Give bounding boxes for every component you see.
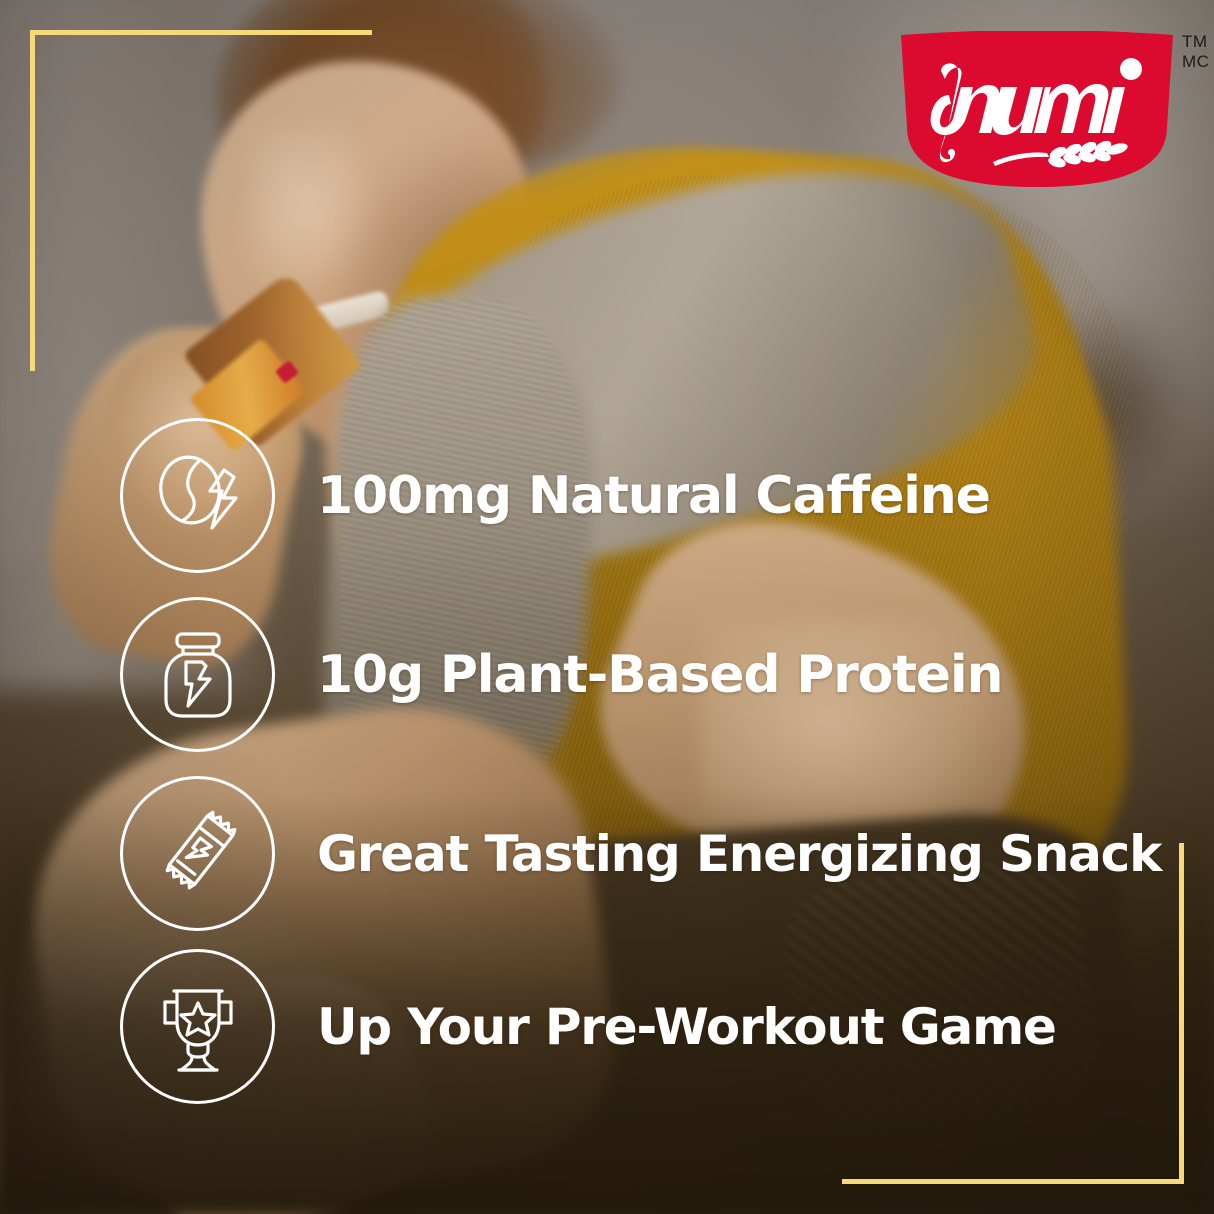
feature-item-protein: 10g Plant-Based Protein [120, 597, 1120, 752]
product-feature-poster: TM MC 100mg Natural Caffeine [0, 0, 1214, 1214]
feature-label-caffeine: 100mg Natural Caffeine [317, 470, 990, 522]
corner-bracket-top-left-horizontal [30, 30, 372, 35]
brand-logo: TM MC [897, 31, 1177, 191]
trademark-mark: TM MC [1182, 32, 1209, 72]
corner-bracket-bottom-right-vertical [1179, 843, 1184, 1184]
energy-bar-lightning-icon [120, 776, 275, 931]
trademark-mc: MC [1182, 52, 1209, 72]
feature-label-preworkout: Up Your Pre-Workout Game [317, 1002, 1056, 1052]
coffee-bean-lightning-icon [120, 418, 275, 573]
trophy-star-icon [120, 949, 275, 1104]
feature-label-protein: 10g Plant-Based Protein [317, 649, 1002, 701]
corner-bracket-top-left-vertical [30, 30, 35, 371]
feature-list: 100mg Natural Caffeine 10g Plant-Based P… [120, 418, 1120, 1128]
corner-bracket-bottom-right-horizontal [842, 1179, 1184, 1184]
feature-item-snack: Great Tasting Energizing Snack [120, 776, 1120, 931]
trademark-tm: TM [1182, 32, 1209, 52]
feature-label-snack: Great Tasting Energizing Snack [317, 829, 1161, 879]
yumi-logo-svg [897, 31, 1177, 191]
protein-jar-lightning-icon [120, 597, 275, 752]
feature-item-caffeine: 100mg Natural Caffeine [120, 418, 1120, 573]
feature-item-preworkout: Up Your Pre-Workout Game [120, 949, 1120, 1104]
